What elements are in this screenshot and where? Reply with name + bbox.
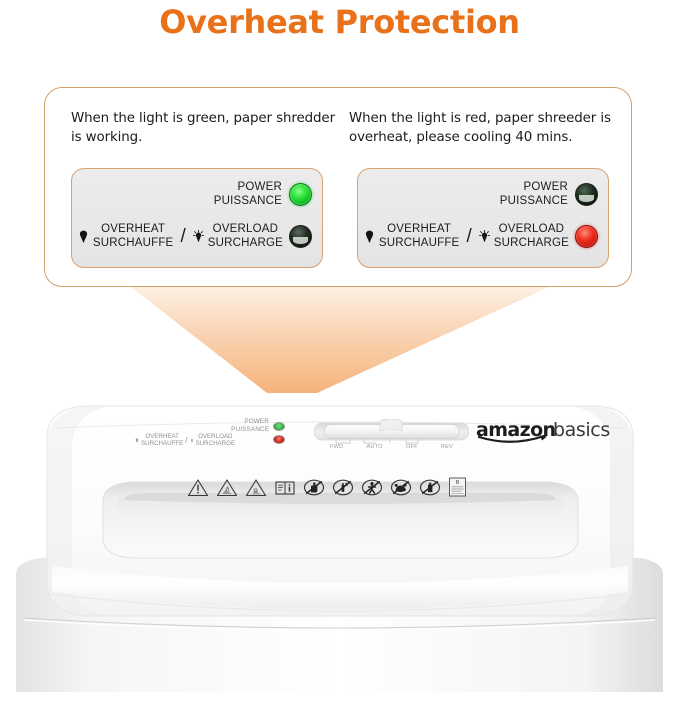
panel-separator-green: / — [179, 228, 186, 246]
callout-green-working: When the light is green, paper shredder … — [67, 88, 345, 286]
page-title: Overheat Protection — [0, 0, 679, 44]
brand-logo-amazon-basics: amazon basics — [476, 419, 616, 445]
device-led-labels: POWER PUISSANCE OVERHEAT SURCHAUFFE / OV… — [135, 418, 285, 454]
safety-pictogram-strip: B — [187, 472, 497, 502]
device-overload-fr: SURCHARGE — [196, 440, 236, 447]
rating-label-icon: B — [448, 476, 467, 498]
device-power-en: POWER — [244, 418, 269, 425]
no-spray-icon — [332, 478, 354, 497]
lamp-rays-icon — [479, 230, 490, 243]
warning-triangle-tie-icon — [245, 478, 267, 497]
overload-led-red — [575, 225, 598, 248]
callout-card: When the light is green, paper shredder … — [44, 87, 632, 287]
overload-label-en: OVERLOAD — [208, 223, 283, 237]
overload-group-green: OVERLOAD SURCHARGE — [193, 223, 283, 250]
overload-group-red: OVERLOAD SURCHARGE — [479, 223, 569, 250]
no-aerosol-icon — [419, 478, 441, 497]
product-image-shredder: POWER PUISSANCE OVERHEAT SURCHAUFFE / OV… — [0, 386, 679, 692]
lamp-rays-icon — [190, 438, 194, 443]
power-led-green — [289, 183, 312, 206]
warning-triangle-hand-icon — [216, 478, 238, 497]
read-manual-icon — [274, 478, 296, 497]
power-label-en: POWER — [524, 181, 568, 193]
overload-label-fr: SURCHARGE — [494, 237, 569, 251]
callout-description-green: When the light is green, paper shredder … — [71, 109, 343, 147]
switch-pos-rev: REV — [441, 444, 453, 450]
mode-switch-labels: FWD AUTO OFF REV — [314, 444, 469, 450]
device-overload-led — [273, 435, 285, 444]
no-pets-icon — [390, 478, 412, 497]
led-panel-red: POWER PUISSANCE OVERHEAT SURCHAUFFE / — [357, 168, 609, 268]
mode-switch[interactable]: FWD AUTO OFF REV — [314, 419, 469, 453]
shredder-control-overlay: POWER PUISSANCE OVERHEAT SURCHAUFFE / OV… — [47, 404, 632, 704]
overload-row-green: OVERHEAT SURCHAUFFE / — [78, 223, 312, 250]
amazon-smile-icon — [478, 435, 550, 446]
callout-description-red: When the light is red, paper shreeder is… — [349, 109, 621, 147]
overheat-label-fr: SURCHAUFFE — [93, 237, 174, 251]
device-power-led — [273, 422, 285, 431]
power-led-off — [575, 183, 598, 206]
power-row-green: POWER PUISSANCE — [214, 181, 312, 208]
bulb-icon — [135, 438, 139, 443]
device-overheat-en: OVERHEAT — [145, 433, 179, 440]
power-label-en: POWER — [238, 181, 282, 193]
overheat-label-en: OVERHEAT — [93, 223, 174, 237]
overload-row-red: OVERHEAT SURCHAUFFE / — [364, 223, 598, 250]
warning-triangle-exclamation-icon — [187, 478, 209, 497]
power-label-fr: PUISSANCE — [214, 195, 282, 207]
overload-label-fr: SURCHARGE — [208, 237, 283, 251]
overheat-group-red: OVERHEAT SURCHAUFFE — [364, 223, 460, 250]
power-label-fr: PUISSANCE — [500, 195, 568, 207]
no-hands-icon — [303, 478, 325, 497]
switch-pos-off: OFF — [406, 444, 418, 450]
switch-pos-fwd: FWD — [330, 444, 343, 450]
no-children-icon — [361, 478, 383, 497]
device-separator: / — [185, 437, 187, 444]
device-overload-labels: OVERHEAT SURCHAUFFE / OVERLOAD SURCHARGE — [135, 433, 235, 448]
power-row-red: POWER PUISSANCE — [500, 181, 598, 208]
bulb-icon — [364, 230, 375, 243]
lamp-rays-icon — [193, 230, 204, 243]
overload-label-en: OVERLOAD — [494, 223, 569, 237]
device-power-fr: PUISSANCE — [231, 426, 269, 433]
overheat-label-fr: SURCHAUFFE — [379, 237, 460, 251]
overheat-group-green: OVERHEAT SURCHAUFFE — [78, 223, 174, 250]
led-panel-green: POWER PUISSANCE OVERHEAT SURCHAUFFE / — [71, 168, 323, 268]
mode-switch-graphic[interactable] — [314, 419, 469, 445]
callout-red-overheat: When the light is red, paper shreeder is… — [345, 88, 623, 286]
device-overheat-fr: SURCHAUFFE — [141, 440, 183, 447]
brand-basics-text: basics — [553, 419, 610, 441]
switch-pos-auto: AUTO — [367, 444, 383, 450]
overheat-label-en: OVERHEAT — [379, 223, 460, 237]
callout-funnel-beam — [131, 287, 549, 393]
overload-led-off — [289, 225, 312, 248]
bulb-icon — [78, 230, 89, 243]
panel-separator-red: / — [465, 228, 472, 246]
device-power-labels: POWER PUISSANCE — [231, 418, 269, 433]
device-overload-en: OVERLOAD — [198, 433, 232, 440]
